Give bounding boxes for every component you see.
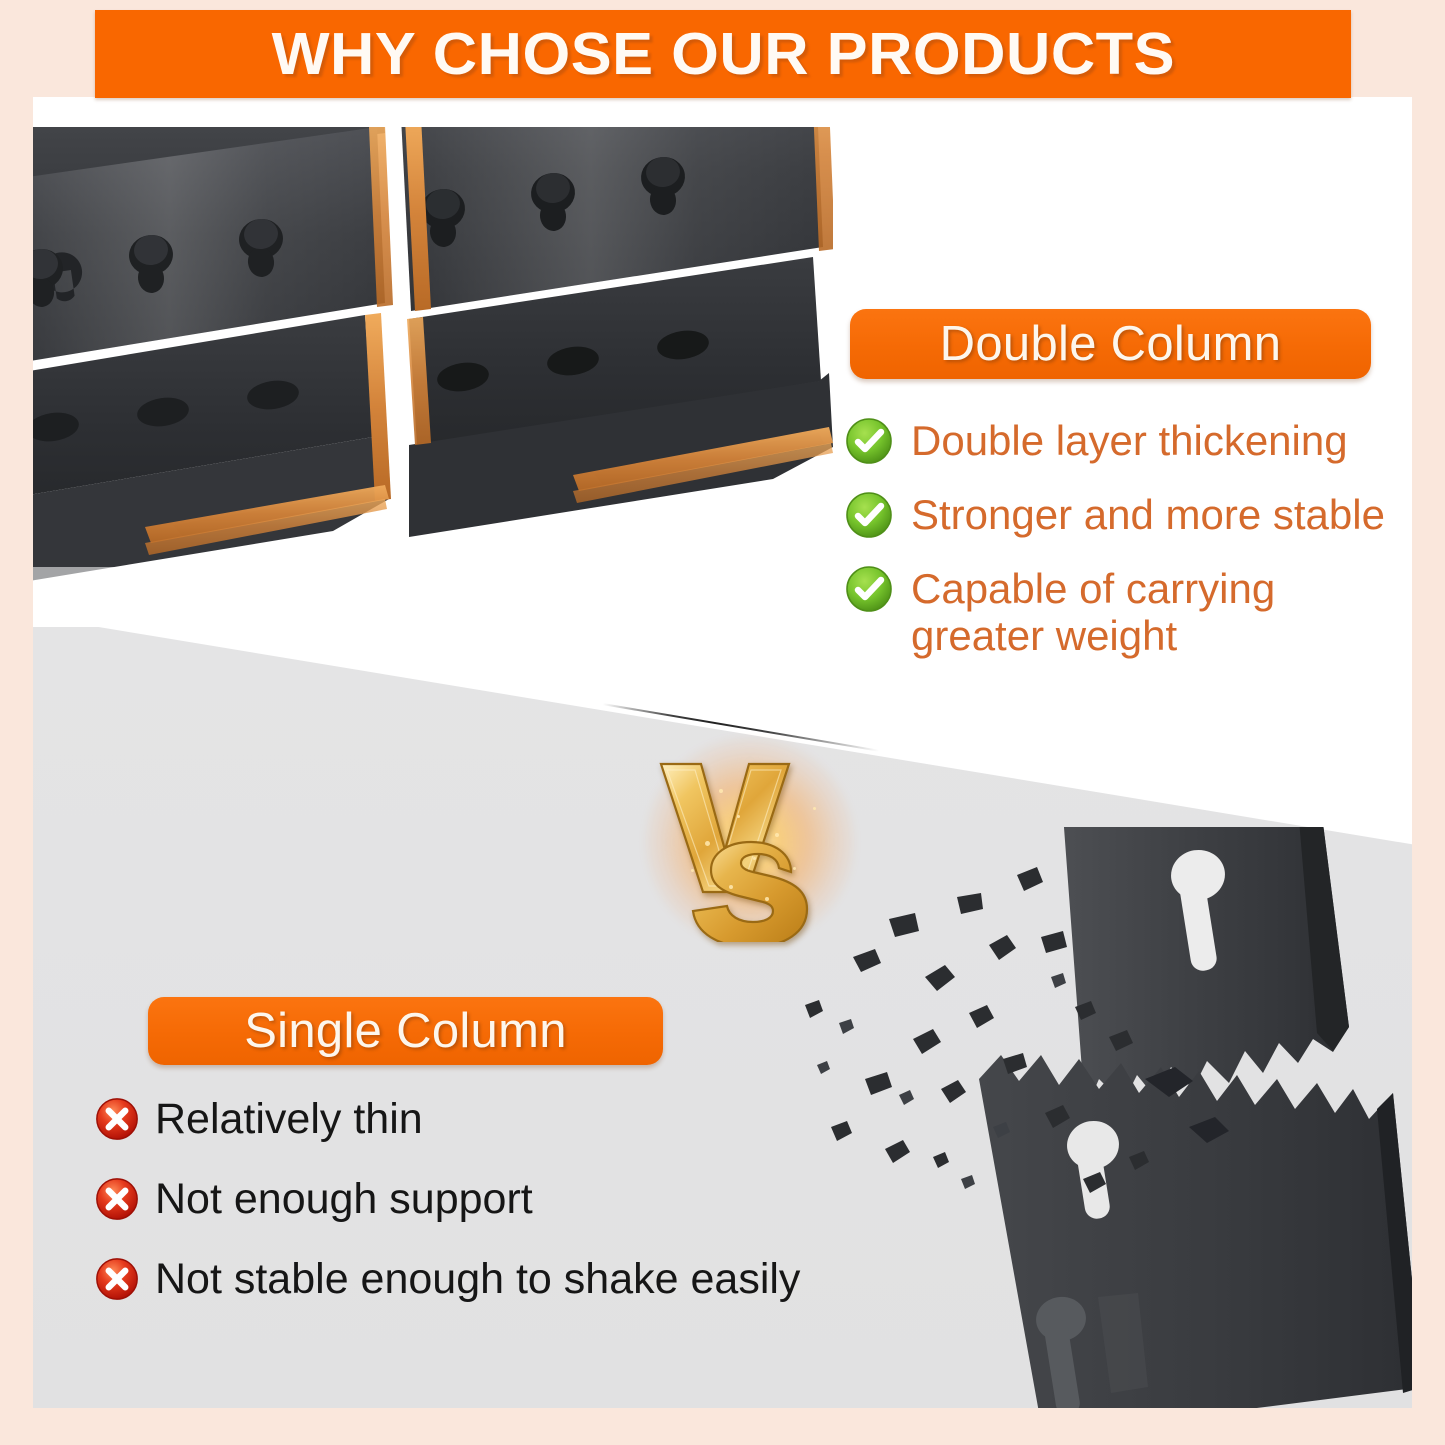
cons-item-label: Not enough support <box>155 1175 533 1223</box>
x-circle-icon <box>95 1097 139 1141</box>
double-column-badge-label: Double Column <box>940 316 1282 372</box>
x-circle-icon <box>95 1257 139 1301</box>
double-column-product-photo <box>33 127 833 627</box>
pros-item-label: Double layer thickening <box>911 417 1348 464</box>
check-circle-icon <box>845 565 893 613</box>
cons-item-label: Not stable enough to shake easily <box>155 1255 800 1303</box>
page-title: WHY CHOSE OUR PRODUCTS <box>271 20 1175 88</box>
double-column-badge: Double Column <box>850 309 1371 379</box>
cons-list-item: Not stable enough to shake easily <box>95 1255 895 1303</box>
check-circle-icon <box>845 417 893 465</box>
cons-list-item: Not enough support <box>95 1175 895 1223</box>
header-bar: WHY CHOSE OUR PRODUCTS <box>95 10 1351 98</box>
pros-list: Double layer thickening Stronger and mor… <box>845 417 1412 685</box>
content-panel: Double Column <box>33 97 1412 1408</box>
pros-list-item: Capable of carrying greater weight <box>845 565 1412 659</box>
cons-item-label: Relatively thin <box>155 1095 423 1143</box>
x-circle-icon <box>95 1177 139 1221</box>
cons-list-item: Relatively thin <box>95 1095 895 1143</box>
pros-item-label: Stronger and more stable <box>911 491 1385 538</box>
single-column-badge-label: Single Column <box>244 1003 567 1059</box>
pros-list-item: Stronger and more stable <box>845 491 1412 539</box>
single-column-badge: Single Column <box>148 997 663 1065</box>
cons-list: Relatively thin Not enough support <box>95 1095 895 1335</box>
check-circle-icon <box>845 491 893 539</box>
pros-list-item: Double layer thickening <box>845 417 1412 465</box>
infographic-root: Double Column <box>0 0 1445 1445</box>
pros-item-label: Capable of carrying greater weight <box>911 565 1341 659</box>
